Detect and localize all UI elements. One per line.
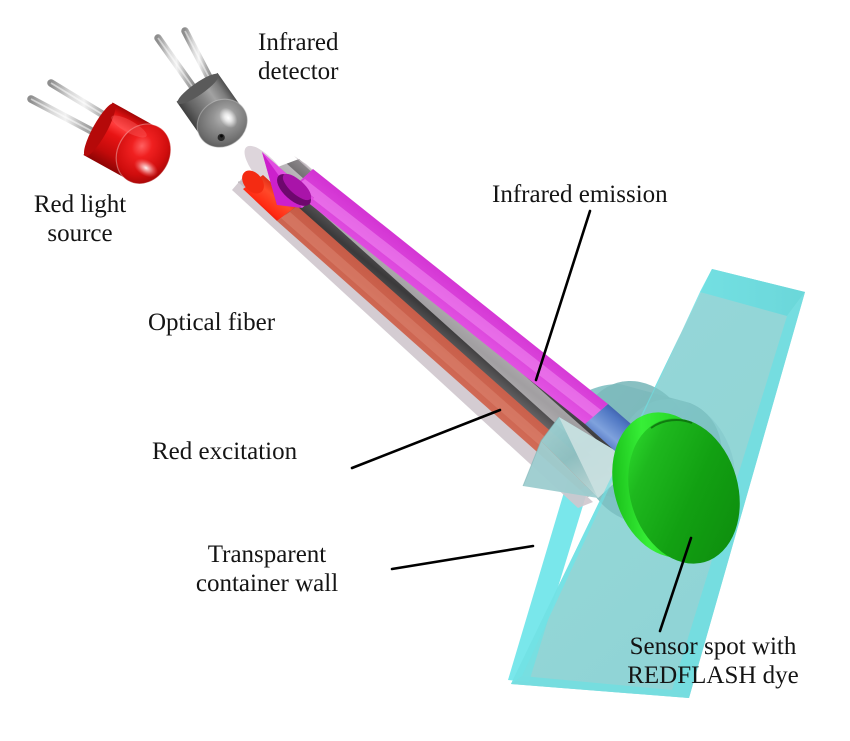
infrared-detector [158, 31, 257, 157]
red-excitation-leader [352, 410, 500, 468]
label-red-light-source: Red light source [4, 190, 156, 249]
infrared-emission-leader [536, 211, 590, 380]
red-light-source-led [31, 83, 181, 194]
schematic-illustration [0, 0, 850, 741]
figure-canvas: Red light source Infrared detector Infra… [0, 0, 850, 741]
label-infrared-emission: Infrared emission [492, 180, 742, 209]
label-red-excitation: Red excitation [152, 437, 372, 466]
transparent-wall-leader [392, 546, 533, 569]
label-sensor-spot: Sensor spot with REDFLASH dye [588, 632, 838, 691]
label-infrared-detector: Infrared detector [258, 28, 448, 87]
label-transparent-container-wall: Transparent container wall [142, 540, 392, 599]
label-optical-fiber: Optical fiber [148, 308, 348, 337]
